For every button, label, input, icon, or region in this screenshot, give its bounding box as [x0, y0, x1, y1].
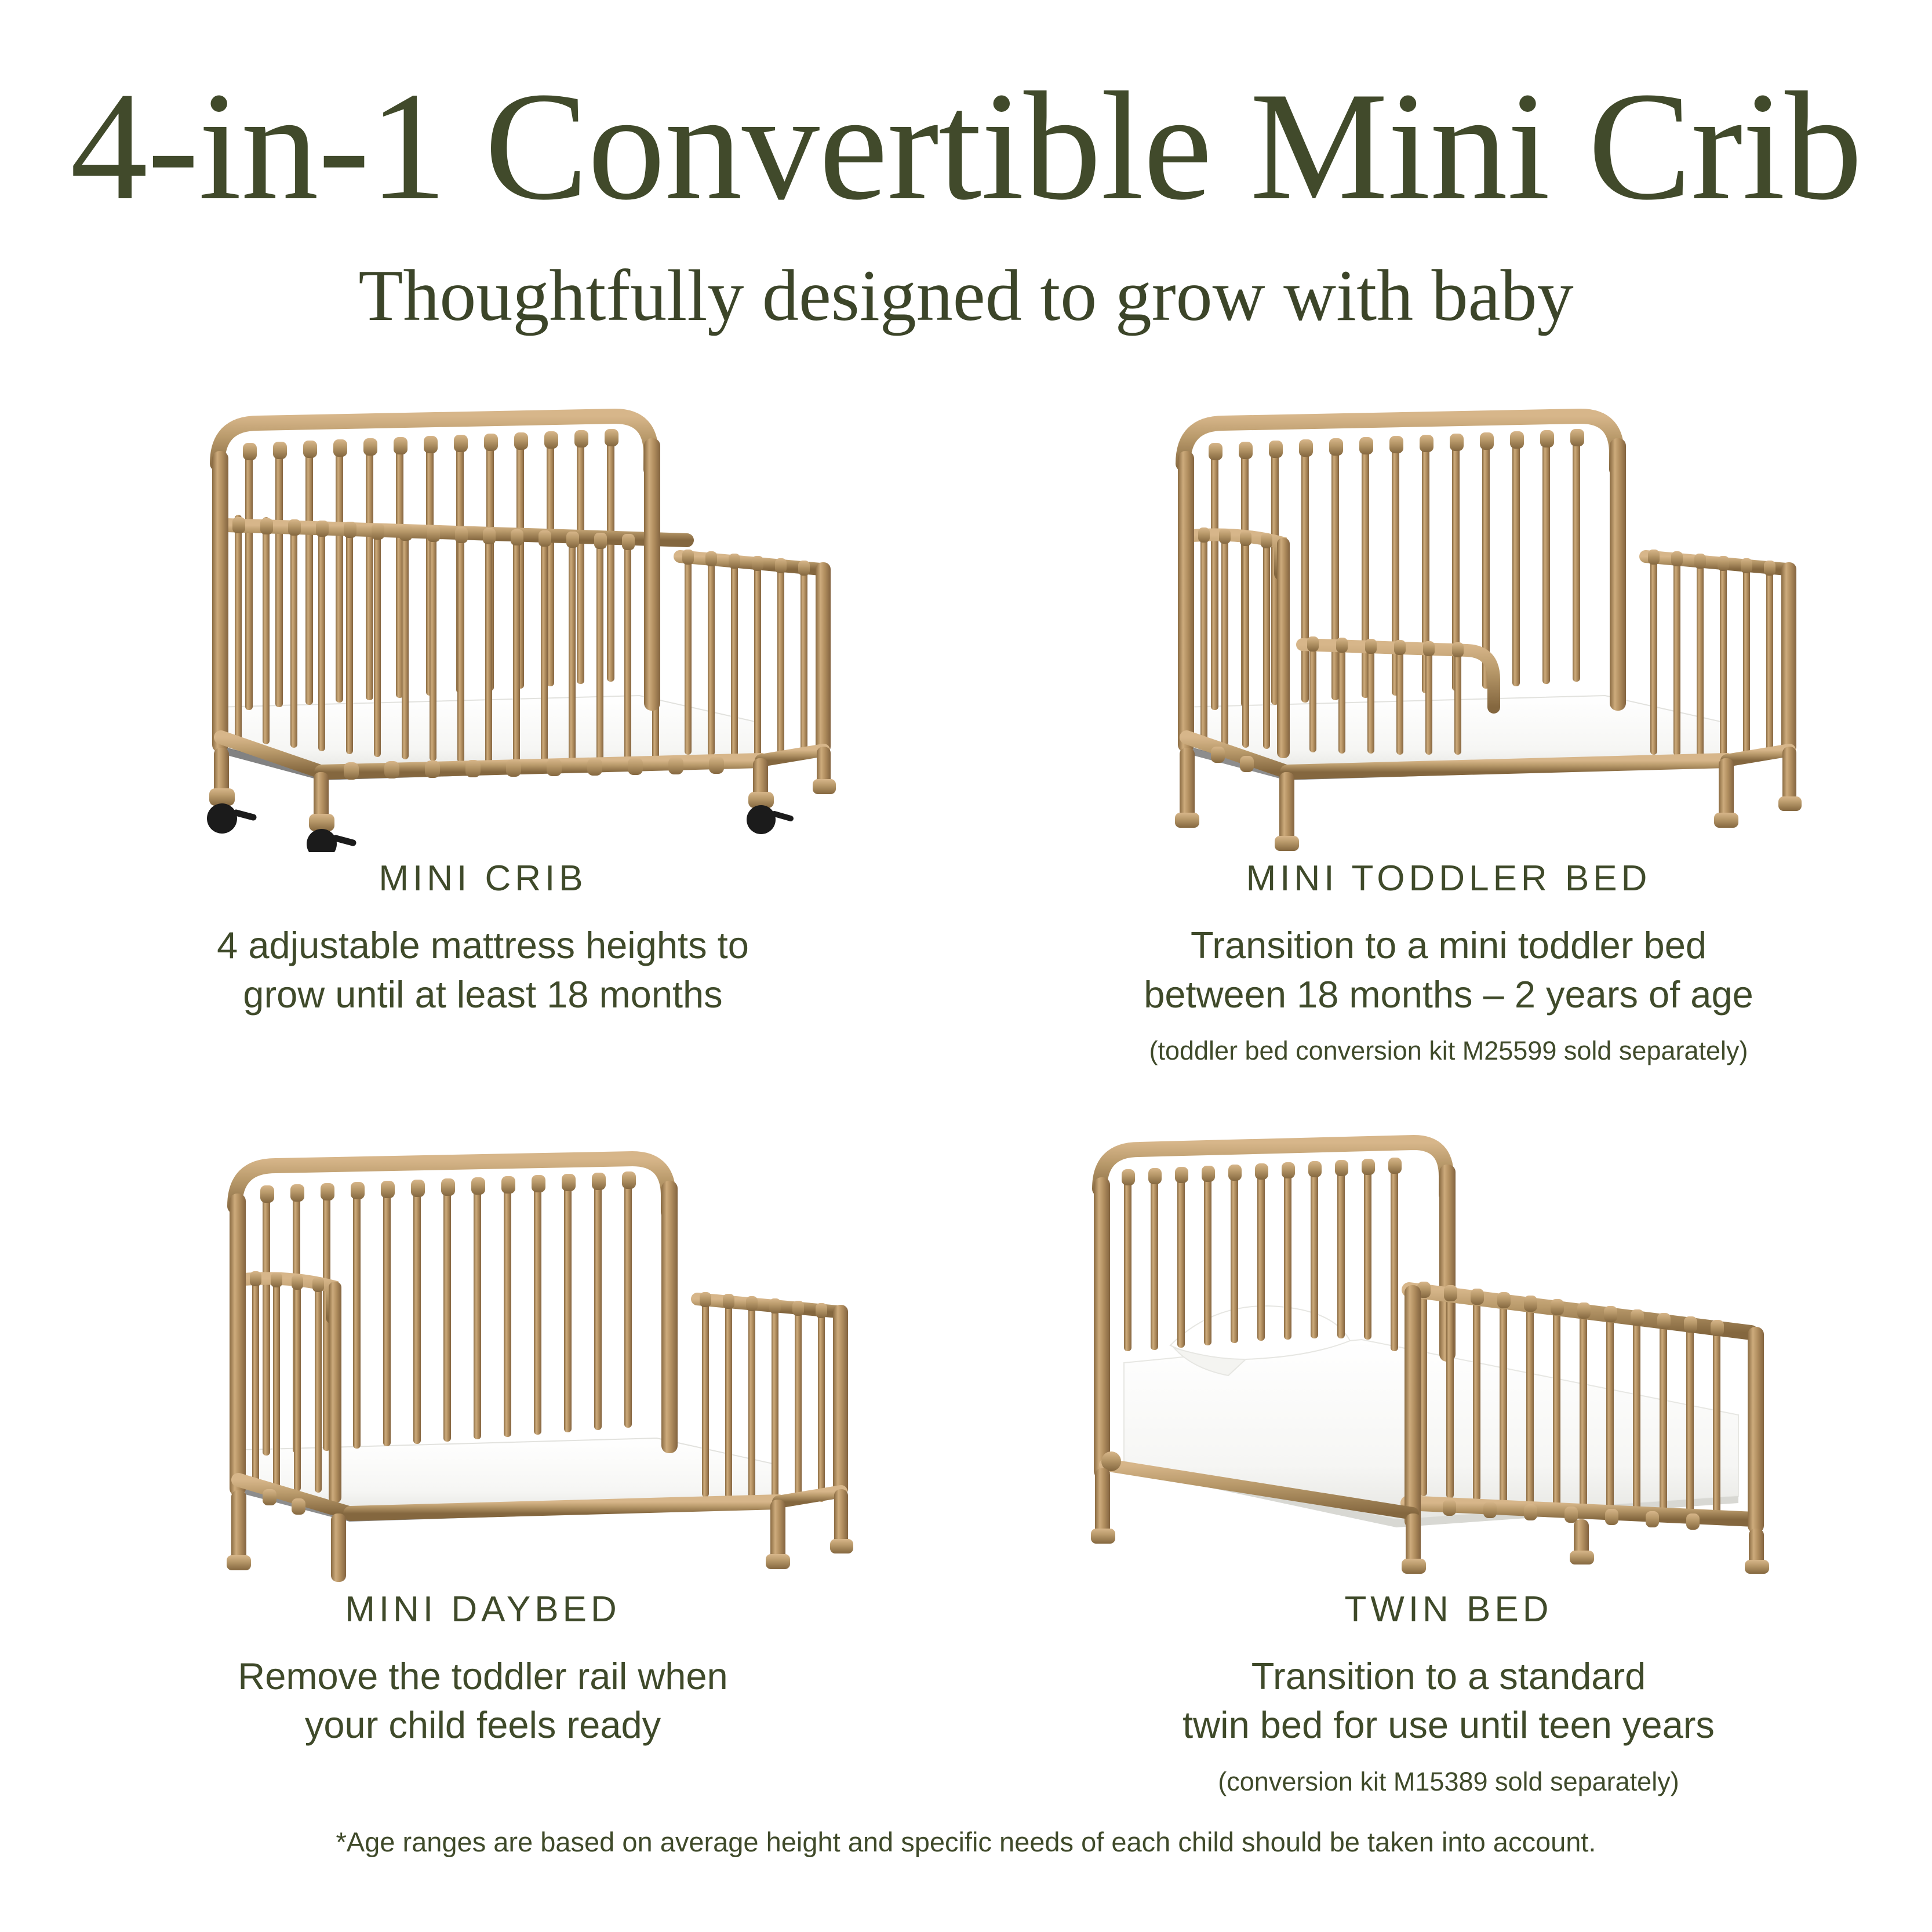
caption-mini-toddler-bed: MINI TODDLER BED Transition to a mini to…	[1014, 852, 1883, 1068]
grid-row-2: MINI DAYBED Remove the toddler rail when…	[0, 1114, 1932, 1799]
panel-mini-crib: MINI CRIB 4 adjustable mattress heights …	[0, 383, 966, 1068]
page-title: 4-in-1 Convertible Mini Crib	[0, 68, 1932, 224]
panel-description-line2: between 18 months – 2 years of age	[1014, 970, 1883, 1020]
panel-description-line2: twin bed for use until teen years	[1014, 1701, 1883, 1750]
panel-description-line1: Remove the toddler rail when	[48, 1652, 918, 1701]
panel-description: 4 adjustable mattress heights to grow un…	[48, 921, 918, 1019]
panel-description-line1: Transition to a standard	[1014, 1652, 1883, 1701]
mini-toddler-bed-illustration	[1037, 383, 1860, 852]
panel-mini-toddler-bed: MINI TODDLER BED Transition to a mini to…	[966, 383, 1931, 1068]
page-subtitle: Thoughtfully designed to grow with baby	[0, 260, 1932, 333]
grid-row-1: MINI CRIB 4 adjustable mattress heights …	[0, 383, 1932, 1068]
panel-description-line1: Transition to a mini toddler bed	[1014, 921, 1883, 970]
panel-description-line1: 4 adjustable mattress heights to	[48, 921, 918, 970]
panel-mini-daybed: MINI DAYBED Remove the toddler rail when…	[0, 1114, 966, 1799]
panel-twin-bed: TWIN BED Transition to a standard twin b…	[966, 1114, 1931, 1799]
caption-twin-bed: TWIN BED Transition to a standard twin b…	[1014, 1583, 1883, 1799]
panel-description-line2: your child feels ready	[48, 1701, 918, 1750]
panel-description-line2: grow until at least 18 months	[48, 970, 918, 1020]
panel-label: MINI DAYBED	[48, 1589, 918, 1630]
infographic-page: 4-in-1 Convertible Mini Crib Thoughtfull…	[0, 0, 1932, 1932]
header: 4-in-1 Convertible Mini Crib Thoughtfull…	[0, 0, 1932, 333]
footnote: *Age ranges are based on average height …	[0, 1826, 1932, 1858]
panel-note: (toddler bed conversion kit M25599 sold …	[1014, 1034, 1883, 1068]
mini-daybed-illustration	[71, 1114, 894, 1583]
panel-label: TWIN BED	[1014, 1589, 1883, 1630]
panel-description: Transition to a mini toddler bed between…	[1014, 921, 1883, 1019]
product-grid: MINI CRIB 4 adjustable mattress heights …	[0, 383, 1932, 1799]
panel-note: (conversion kit M15389 sold separately)	[1014, 1765, 1883, 1799]
mini-crib-illustration	[71, 383, 894, 852]
twin-bed-illustration	[1037, 1114, 1860, 1583]
panel-label: MINI TODDLER BED	[1014, 858, 1883, 899]
panel-description: Remove the toddler rail when your child …	[48, 1652, 918, 1750]
caption-mini-crib: MINI CRIB 4 adjustable mattress heights …	[48, 852, 918, 1019]
panel-description: Transition to a standard twin bed for us…	[1014, 1652, 1883, 1750]
caption-mini-daybed: MINI DAYBED Remove the toddler rail when…	[48, 1583, 918, 1750]
panel-label: MINI CRIB	[48, 858, 918, 899]
